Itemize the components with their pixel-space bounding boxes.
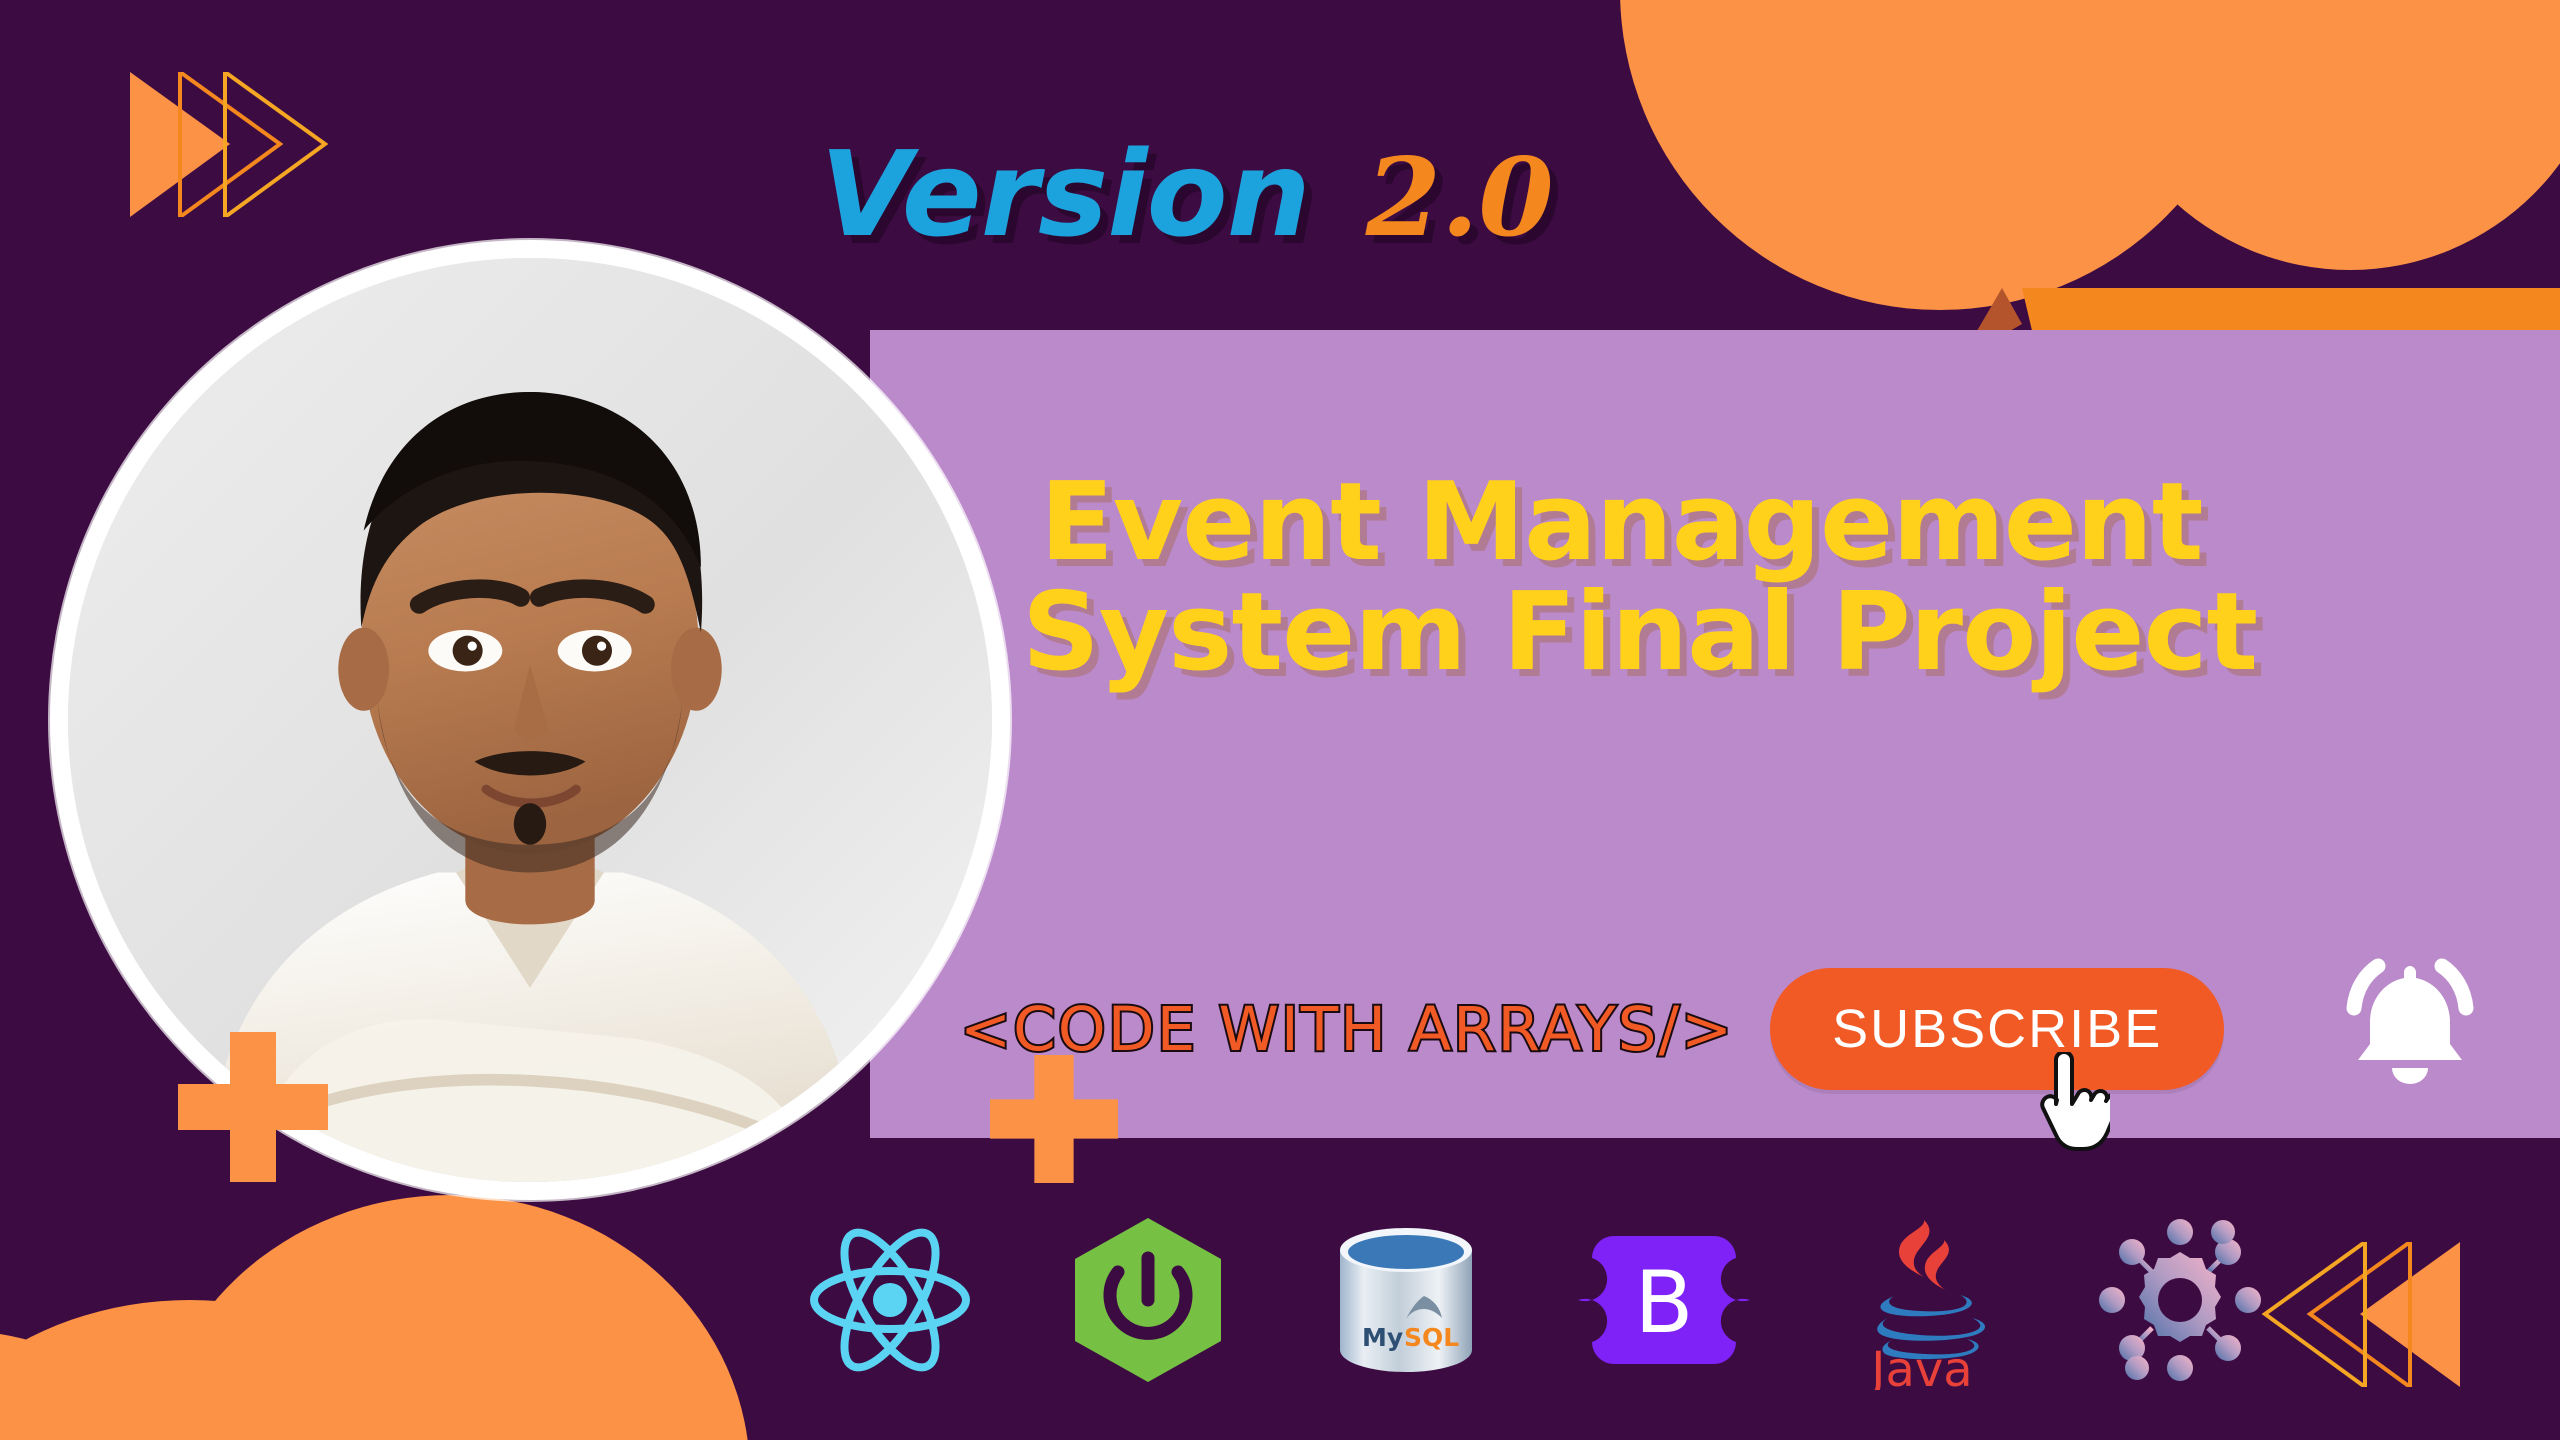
cloud-bottom-left-blob-2 bbox=[150, 1195, 750, 1440]
thumbnail-canvas: Version 2.0 Event Management System Fina… bbox=[0, 0, 2560, 1440]
triple-chevron-left-icon bbox=[2260, 1242, 2460, 1392]
version-number: 2.0 bbox=[1366, 135, 1554, 261]
bootstrap-icon: B bbox=[1574, 1210, 1754, 1390]
title-line-1: Event Management bbox=[1040, 468, 2510, 578]
svg-text:Java: Java bbox=[1868, 1342, 1972, 1390]
svg-text:B: B bbox=[1635, 1253, 1694, 1353]
react-icon bbox=[800, 1210, 980, 1390]
channel-tag: <CODE WITH ARRAYS/> bbox=[960, 994, 1734, 1065]
svg-text:My: My bbox=[1362, 1323, 1403, 1352]
title-line-2: System Final Project bbox=[1022, 578, 2510, 688]
microservices-gear-icon bbox=[2090, 1210, 2270, 1390]
hand-cursor-icon bbox=[2038, 1052, 2110, 1156]
plus-mark-left bbox=[178, 1032, 328, 1182]
version-word: Version bbox=[820, 125, 1310, 263]
tech-stack-row: My SQL B Java bbox=[800, 1210, 2270, 1390]
mysql-icon: My SQL bbox=[1316, 1210, 1496, 1390]
triple-chevron-right-icon bbox=[130, 72, 330, 222]
spring-boot-icon bbox=[1058, 1210, 1238, 1390]
version-heading: Version 2.0 bbox=[820, 125, 1554, 263]
page-title: Event Management System Final Project bbox=[1040, 468, 2510, 688]
brand-row: <CODE WITH ARRAYS/> SUBSCRIBE bbox=[960, 968, 2224, 1090]
notification-bell-icon bbox=[2330, 950, 2490, 1100]
java-icon: Java bbox=[1832, 1210, 2012, 1390]
svg-text:SQL: SQL bbox=[1404, 1323, 1459, 1352]
subscribe-button[interactable]: SUBSCRIBE bbox=[1770, 968, 2224, 1090]
